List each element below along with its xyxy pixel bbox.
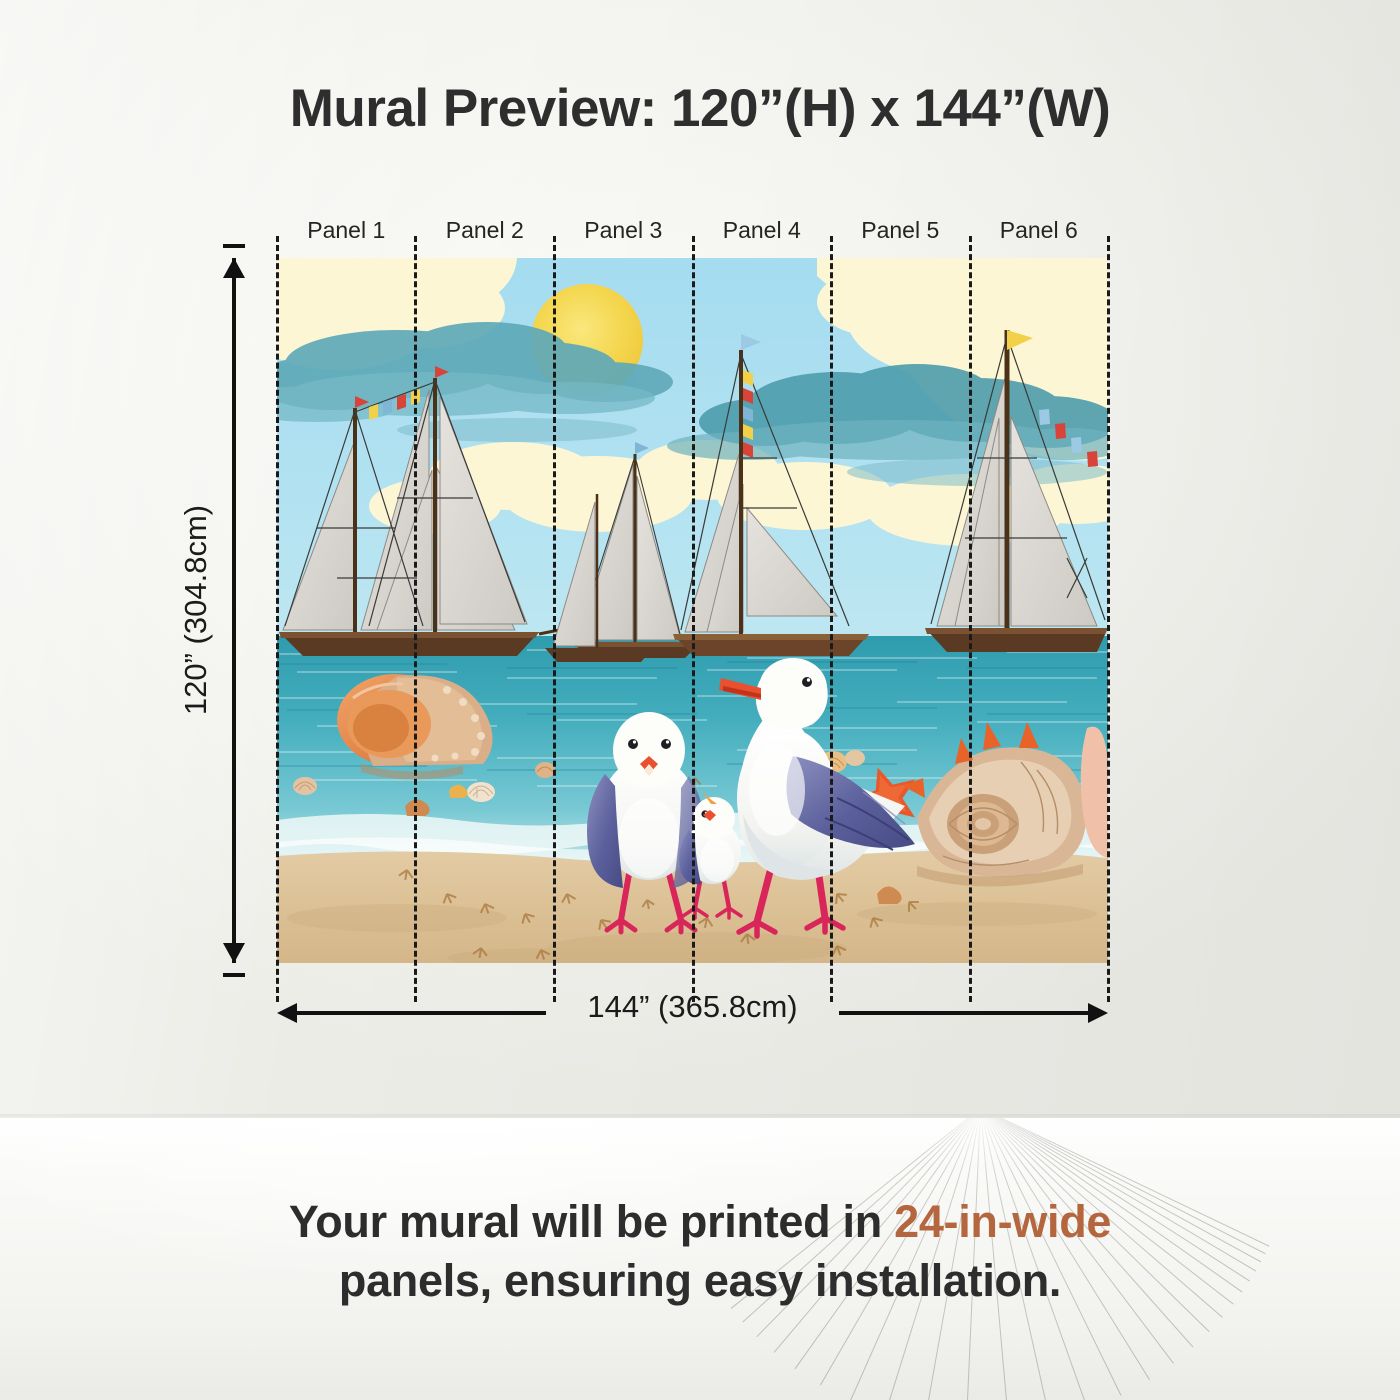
panel-label-6: Panel 6 bbox=[970, 212, 1109, 248]
height-cap-bottom bbox=[223, 973, 245, 977]
caption-line-1: Your mural will be printed in 24-in-wide bbox=[0, 1192, 1400, 1251]
height-dimension-label: 120” (304.8cm) bbox=[178, 505, 214, 715]
panel-divider-3 bbox=[692, 236, 695, 1002]
page-title: Mural Preview: 120”(H) x 144”(W) bbox=[0, 78, 1400, 139]
panel-label-3: Panel 3 bbox=[554, 212, 693, 248]
height-arrow-bottom bbox=[223, 943, 245, 963]
caption-line-2: panels, ensuring easy installation. bbox=[0, 1251, 1400, 1310]
height-arrow-top bbox=[223, 258, 245, 278]
caption-accent-panel-width: 24-in-wide bbox=[894, 1196, 1111, 1247]
panel-label-1: Panel 1 bbox=[277, 212, 416, 248]
height-dimension-line bbox=[232, 258, 236, 963]
mural-edge-left bbox=[276, 236, 279, 1002]
width-dimension-label: 144” (365.8cm) bbox=[277, 989, 1108, 1025]
panel-divider-2 bbox=[553, 236, 556, 1002]
panel-label-2: Panel 2 bbox=[416, 212, 555, 248]
panel-label-5: Panel 5 bbox=[831, 212, 970, 248]
height-cap-top bbox=[223, 244, 245, 248]
panel-divider-4 bbox=[830, 236, 833, 1002]
panel-divider-1 bbox=[414, 236, 417, 1002]
mural-edge-right bbox=[1107, 236, 1110, 1002]
panel-label-4: Panel 4 bbox=[693, 212, 832, 248]
installation-caption: Your mural will be printed in 24-in-wide… bbox=[0, 1192, 1400, 1311]
panel-divider-5 bbox=[969, 236, 972, 1002]
caption-line-1-text: Your mural will be printed in bbox=[289, 1196, 894, 1247]
